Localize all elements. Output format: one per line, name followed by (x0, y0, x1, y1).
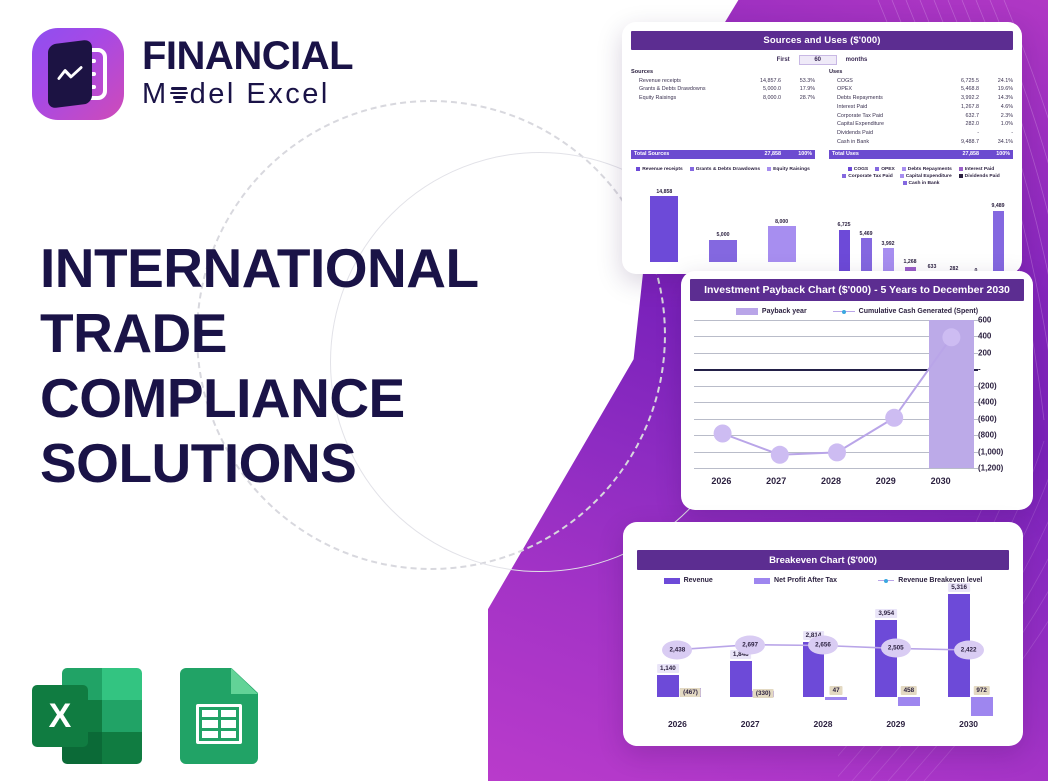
wave-line-icon (57, 65, 83, 82)
source-value: 14,857.6 (737, 77, 781, 86)
sources-and-uses-card[interactable]: Sources and Uses ($'000) First 60 months… (622, 22, 1022, 274)
payback-x-axis: 20262027202820292030 (694, 476, 968, 486)
sources-bar: 5,000 (709, 178, 737, 262)
legend-label: Revenue receipts (642, 167, 683, 172)
uses-bar: 0 (971, 192, 982, 275)
total-uses-label: Total Uses (829, 151, 935, 157)
use-row: Dividends Paid-- (829, 129, 1013, 138)
source-label: Grants & Debts Drawdowns (631, 85, 737, 94)
uses-bar-label: 633 (928, 264, 937, 270)
y-tick-label: (800) (978, 431, 997, 440)
uses-bar-label: 5,469 (860, 231, 873, 237)
cumulative-line-swatch (833, 308, 855, 315)
legend-swatch (903, 181, 907, 185)
spacer-row (631, 138, 815, 147)
payback-band-swatch (736, 308, 758, 315)
breakeven-marker: 2,422 (954, 641, 984, 660)
uses-bar: 6,725 (839, 192, 850, 275)
y-tick-label: (200) (978, 381, 997, 390)
legend-label: Interest Paid (965, 167, 994, 172)
headline-line-1: INTERNATIONAL (40, 236, 479, 301)
breakeven-line-swatch (878, 578, 894, 584)
sources-bar-label: 8,000 (775, 219, 788, 225)
legend-npat-label: Net Profit After Tax (774, 577, 837, 584)
cumulative-cash-line (694, 320, 968, 468)
legend-label: Grants & Debts Drawdowns (696, 167, 760, 172)
y-tick-label: 400 (978, 332, 991, 341)
use-pct: 34.1% (979, 138, 1013, 147)
sources-bar-label: 14,858 (656, 189, 672, 195)
x-tick-label: 2027 (749, 476, 804, 486)
source-pct: 17.9% (781, 85, 815, 94)
total-uses-pct: 100% (979, 151, 1013, 157)
legend-item: Revenue receipts (636, 167, 683, 172)
gridline (694, 468, 978, 469)
spacer-row (631, 129, 815, 138)
sources-bar-rect (650, 196, 678, 261)
legend-label: Corporate Tax Paid (848, 174, 892, 179)
legend-swatch (959, 167, 963, 171)
total-sources-value: 27,858 (737, 151, 781, 157)
breakeven-x-axis: 20262027202820292030 (641, 719, 1005, 729)
use-pct: 1.0% (979, 120, 1013, 129)
use-value: 6,725.5 (935, 77, 979, 86)
revenue-swatch (664, 578, 680, 584)
legend-label: Capital Expenditure (906, 174, 952, 179)
legend-item: Equity Raisings (767, 167, 810, 172)
use-row: COGS6,725.524.1% (829, 77, 1013, 86)
x-tick-label: 2026 (641, 719, 714, 729)
uses-bar: 5,469 (861, 192, 872, 275)
source-row: Grants & Debts Drawdowns5,000.017.9% (631, 85, 815, 94)
legend-revenue-label: Revenue (684, 577, 713, 584)
total-sources-pct: 100% (781, 151, 815, 157)
use-row: Capital Expenditure282.01.0% (829, 120, 1013, 129)
x-tick-label: 2029 (859, 719, 932, 729)
spacer-row (631, 120, 815, 129)
y-tick-label: (1,000) (978, 447, 1003, 456)
brand-logo: FINANCIAL M del Excel (32, 28, 353, 120)
x-tick-label: 2030 (913, 476, 968, 486)
breakeven-marker: 2,438 (662, 640, 692, 659)
uses-bar-label: 9,489 (992, 203, 1005, 209)
legend-item: Corporate Tax Paid (842, 174, 892, 179)
source-value: 8,000.0 (737, 94, 781, 103)
legend-payback-year-label: Payback year (762, 308, 807, 315)
brand-subtitle-rest: del Excel (190, 76, 330, 112)
headline-line-2: TRADE (40, 301, 479, 366)
total-uses-row: Total Uses 27,858 100% (829, 150, 1013, 159)
uses-bar-label: 6,725 (838, 222, 851, 228)
sources-bar: 8,000 (768, 178, 796, 262)
use-value: - (935, 129, 979, 138)
use-value: 282.0 (935, 120, 979, 129)
legend-swatch (690, 167, 694, 171)
use-row: Interest Paid1,267.84.6% (829, 103, 1013, 112)
use-row: Corporate Tax Paid632.72.3% (829, 112, 1013, 121)
brand-title: FINANCIAL (142, 36, 353, 76)
legend-swatch (636, 167, 640, 171)
x-tick-label: 2030 (932, 719, 1005, 729)
legend-swatch (902, 167, 906, 171)
uses-bar: 282 (949, 192, 960, 275)
supported-formats: X (32, 668, 258, 764)
legend-item: Interest Paid (959, 167, 994, 172)
sources-bar-rect (709, 240, 737, 262)
use-label: Interest Paid (829, 103, 935, 112)
legend-label: Debts Repayments (908, 167, 952, 172)
legend-swatch (900, 174, 904, 178)
brand-subtitle-m: M (142, 76, 169, 112)
months-input[interactable]: 60 (799, 55, 837, 65)
payback-plot-area: 600400200-(200)(400)(600)(800)(1,000)(1,… (694, 320, 968, 468)
legend-swatch (767, 167, 771, 171)
use-label: Corporate Tax Paid (829, 112, 935, 121)
source-value: 5,000.0 (737, 85, 781, 94)
period-selector[interactable]: First 60 months (631, 55, 1013, 65)
breakeven-marker: 2,656 (808, 636, 838, 655)
legend-cumulative-cash: Cumulative Cash Generated (Spent) (833, 308, 978, 315)
legend-payback-year: Payback year (736, 308, 807, 315)
source-pct: 28.7% (781, 94, 815, 103)
legend-cumulative-cash-label: Cumulative Cash Generated (Spent) (859, 308, 978, 315)
use-row: OPEX5,468.819.6% (829, 85, 1013, 94)
y-tick-label: (1,200) (978, 464, 1003, 473)
excel-x-letter: X (32, 685, 88, 747)
page-title: INTERNATIONAL TRADE COMPLIANCE SOLUTIONS (40, 236, 479, 496)
use-row: Cash in Bank9,488.734.1% (829, 138, 1013, 147)
total-uses-value: 27,858 (935, 151, 979, 157)
legend-item: COGS (848, 167, 868, 172)
payback-legend: Payback year Cumulative Cash Generated (… (690, 308, 1024, 315)
legend-item: Debts Repayments (902, 167, 952, 172)
legend-label: Equity Raisings (773, 167, 810, 172)
y-tick-label: (600) (978, 414, 997, 423)
total-sources-row: Total Sources 27,858 100% (631, 150, 815, 159)
uses-chart-legend: COGSOPEXDebts RepaymentsInterest PaidCor… (829, 167, 1013, 186)
microsoft-excel-icon: X (32, 668, 142, 764)
use-pct: 14.3% (979, 94, 1013, 103)
use-pct: - (979, 129, 1013, 138)
y-tick-label: 200 (978, 348, 991, 357)
use-value: 632.7 (935, 112, 979, 121)
legend-npat: Net Profit After Tax (754, 577, 837, 584)
sources-column: Sources Revenue receipts14,857.653.3%Gra… (631, 69, 815, 159)
uses-bar-rect (993, 211, 1004, 274)
x-tick-label: 2026 (694, 476, 749, 486)
x-tick-label: 2027 (714, 719, 787, 729)
legend-item: OPEX (875, 167, 895, 172)
breakeven-marker: 2,697 (735, 635, 765, 654)
legend-swatch (842, 174, 846, 178)
use-label: Dividends Paid (829, 129, 935, 138)
x-tick-label: 2028 (804, 476, 859, 486)
y-tick-label: - (978, 365, 981, 374)
legend-item: Cash in Bank (903, 181, 940, 186)
uses-bar: 1,268 (905, 192, 916, 275)
google-sheets-icon (180, 668, 258, 764)
legend-item: Dividends Paid (959, 174, 1000, 179)
sources-bar-chart: 14,8585,0008,000 (631, 178, 815, 262)
uses-bar-label: 1,268 (904, 259, 917, 265)
sources-bar: 14,858 (650, 178, 678, 262)
investment-payback-card[interactable]: Investment Payback Chart ($'000) - 5 Yea… (681, 271, 1033, 510)
uses-bar: 633 (927, 192, 938, 275)
legend-swatch (875, 167, 879, 171)
use-label: Capital Expenditure (829, 120, 935, 129)
legend-item: Grants & Debts Drawdowns (690, 167, 760, 172)
use-pct: 24.1% (979, 77, 1013, 86)
legend-swatch (959, 174, 963, 178)
legend-label: OPEX (881, 167, 895, 172)
use-value: 9,488.7 (935, 138, 979, 147)
payback-title: Investment Payback Chart ($'000) - 5 Yea… (690, 279, 1024, 301)
uses-bar-rect (861, 238, 872, 274)
uses-column: Uses COGS6,725.524.1%OPEX5,468.819.6%Deb… (829, 69, 1013, 159)
use-pct: 2.3% (979, 112, 1013, 121)
sources-chart-legend: Revenue receiptsGrants & Debts Drawdowns… (631, 167, 815, 172)
source-row: Equity Raisings8,000.028.7% (631, 94, 815, 103)
source-row: Revenue receipts14,857.653.3% (631, 77, 815, 86)
npat-swatch (754, 578, 770, 584)
period-prefix-label: First (777, 57, 790, 63)
source-label: Equity Raisings (631, 94, 737, 103)
uses-bar: 3,992 (883, 192, 894, 275)
uses-bar-chart: 6,7255,4693,9921,26863328209,489 (829, 192, 1013, 275)
use-value: 1,267.8 (935, 103, 979, 112)
legend-label: Cash in Bank (909, 181, 940, 186)
use-pct: 19.6% (979, 85, 1013, 94)
legend-item: Capital Expenditure (900, 174, 952, 179)
use-label: Debts Repayments (829, 94, 935, 103)
breakeven-plot-area: 1,140(467)1,848(330)2,814473,9544585,316… (641, 586, 1005, 711)
legend-label: COGS (854, 167, 868, 172)
source-label: Revenue receipts (631, 77, 737, 86)
x-tick-label: 2029 (858, 476, 913, 486)
uses-bar: 9,489 (993, 192, 1004, 275)
legend-label: Dividends Paid (965, 174, 1000, 179)
brand-subtitle: M del Excel (142, 76, 353, 112)
sources-bar-label: 5,000 (716, 232, 729, 238)
spacer-row (631, 112, 815, 121)
use-value: 5,468.8 (935, 85, 979, 94)
legend-swatch (848, 167, 852, 171)
breakeven-title: Breakeven Chart ($'000) (637, 550, 1009, 570)
use-label: COGS (829, 77, 935, 86)
uses-bar-label: 3,992 (882, 241, 895, 247)
financial-model-logo-icon (32, 28, 124, 120)
payback-y-axis: 600400200-(200)(400)(600)(800)(1,000)(1,… (972, 320, 1024, 468)
headline-line-3: COMPLIANCE (40, 366, 479, 431)
uses-bar-rect (839, 230, 850, 274)
y-tick-label: (400) (978, 398, 997, 407)
total-sources-label: Total Sources (631, 151, 737, 157)
use-label: Cash in Bank (829, 138, 935, 147)
sources-uses-title: Sources and Uses ($'000) (631, 31, 1013, 50)
uses-header: Uses (829, 69, 1013, 75)
breakeven-marker: 2,505 (881, 639, 911, 658)
spacer-row (631, 103, 815, 112)
use-row: Debts Repayments3,992.214.3% (829, 94, 1013, 103)
period-suffix-label: months (846, 57, 868, 63)
x-tick-label: 2028 (787, 719, 860, 729)
use-label: OPEX (829, 85, 935, 94)
sources-header: Sources (631, 69, 815, 75)
use-pct: 4.6% (979, 103, 1013, 112)
stacked-lines-o-icon (170, 83, 189, 107)
y-tick-label: 600 (978, 316, 991, 325)
headline-line-4: SOLUTIONS (40, 431, 479, 496)
chart-card-icon (48, 39, 92, 108)
breakeven-card[interactable]: Breakeven Chart ($'000) Revenue Net Prof… (623, 522, 1023, 746)
legend-revenue: Revenue (664, 577, 713, 584)
sources-bar-rect (768, 226, 796, 261)
use-value: 3,992.2 (935, 94, 979, 103)
source-pct: 53.3% (781, 77, 815, 86)
